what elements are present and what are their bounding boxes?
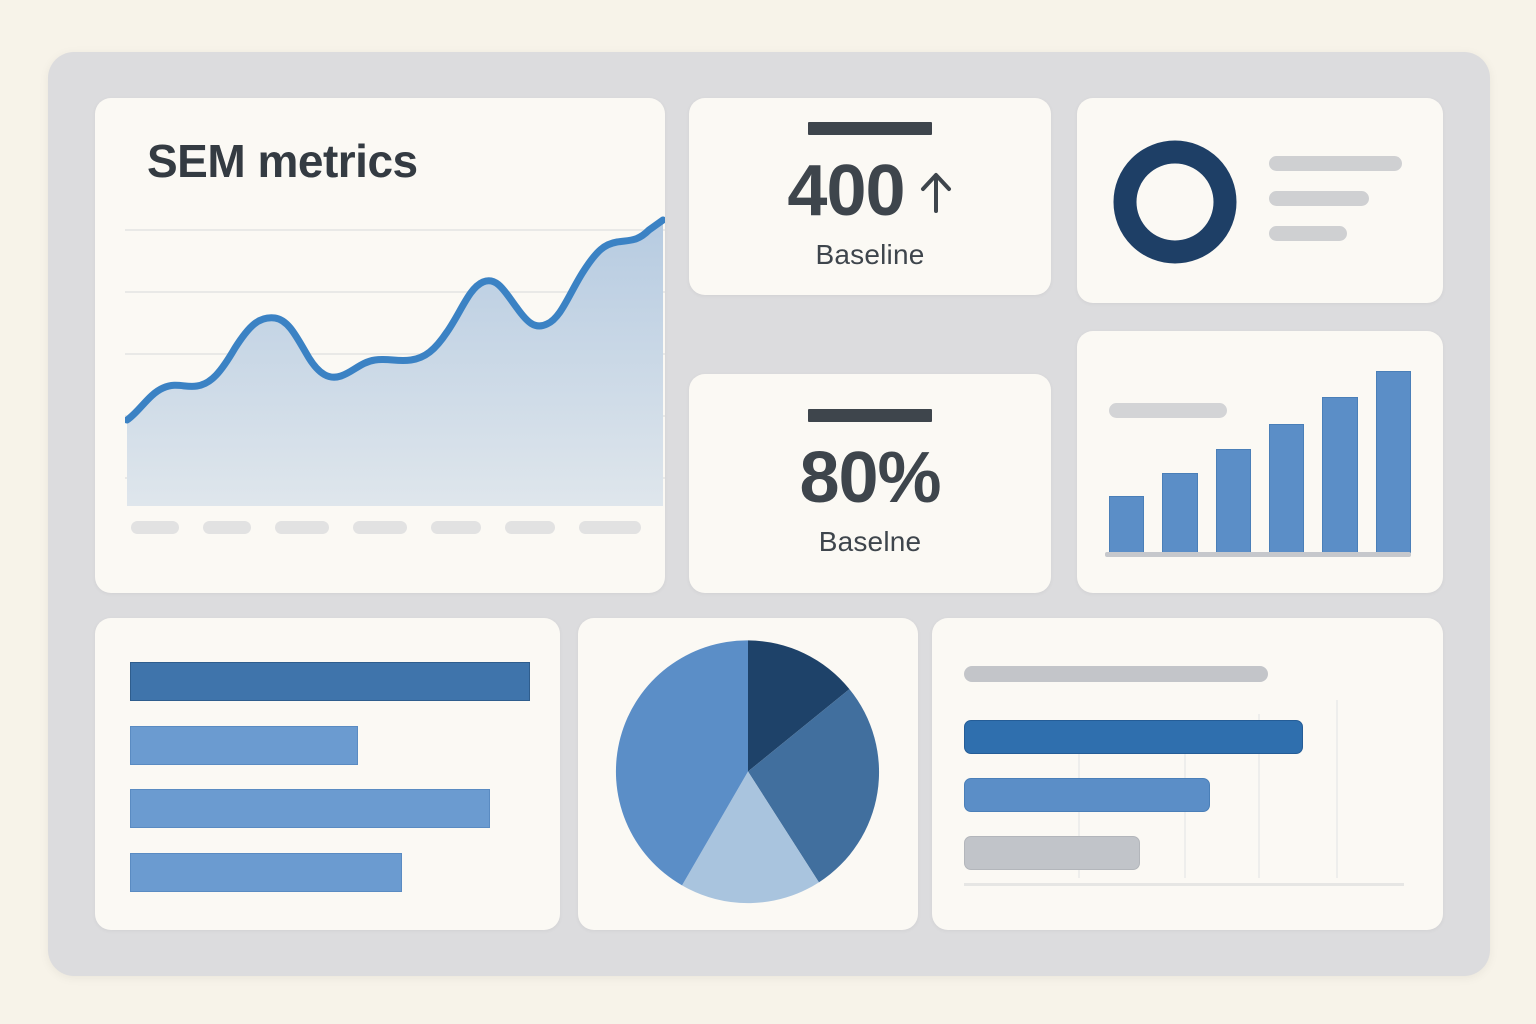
x-axis-pill	[203, 521, 251, 534]
card-kpi-400[interactable]: 400 Baseline	[689, 98, 1051, 295]
x-axis-pill	[353, 521, 407, 534]
card-horizontal-bar-chart[interactable]	[95, 618, 560, 930]
placeholder-line	[1269, 156, 1402, 171]
x-axis-pill	[505, 521, 555, 534]
bar	[130, 789, 490, 828]
x-axis-pill	[579, 521, 641, 534]
donut-ring-icon	[1113, 140, 1237, 269]
card-sem-metrics-chart[interactable]: SEM metrics	[95, 98, 665, 593]
bar	[1109, 496, 1144, 553]
card-vertical-bar-chart[interactable]	[1077, 331, 1443, 593]
bar	[1216, 449, 1251, 554]
progress-chart-title-placeholder	[964, 666, 1268, 682]
bar	[1269, 424, 1304, 553]
progress-bars-group	[964, 720, 1404, 870]
kpi-value: 400	[787, 157, 904, 225]
bar	[964, 720, 1303, 754]
page-title: SEM metrics	[147, 134, 418, 188]
bar	[1162, 473, 1197, 553]
bar	[130, 662, 530, 701]
vertical-bars-group	[1109, 363, 1411, 553]
progress-chart-baseline	[964, 883, 1404, 886]
bar	[964, 836, 1140, 870]
kpi-rule	[808, 122, 932, 135]
horizontal-bars-group	[130, 662, 530, 892]
kpi-value: 80%	[799, 444, 940, 512]
arrow-up-icon	[919, 169, 953, 213]
card-pie-chart[interactable]	[578, 618, 918, 930]
kpi-label: Baseline	[815, 239, 924, 271]
card-kpi-80-percent[interactable]: 80% Baselne	[689, 374, 1051, 593]
bar-chart-baseline	[1105, 552, 1411, 557]
bar	[130, 726, 358, 765]
kpi-label: Baselne	[819, 526, 922, 558]
card-progress-bar-chart[interactable]	[932, 618, 1443, 930]
pie-chart	[610, 634, 886, 915]
placeholder-line	[1269, 226, 1347, 241]
ring-placeholder-lines	[1269, 156, 1402, 241]
x-axis-pill	[275, 521, 329, 534]
card-ring-summary[interactable]	[1077, 98, 1443, 303]
bar	[130, 853, 402, 892]
kpi-rule	[808, 409, 932, 422]
placeholder-line	[1269, 191, 1369, 206]
x-axis-placeholder-labels	[131, 516, 641, 538]
area-chart-plot	[125, 208, 665, 508]
bar	[964, 778, 1210, 812]
dashboard-panel: SEM metrics	[48, 52, 1490, 976]
x-axis-pill	[131, 521, 179, 534]
x-axis-pill	[431, 521, 481, 534]
bar	[1322, 397, 1357, 553]
bar	[1376, 371, 1411, 553]
